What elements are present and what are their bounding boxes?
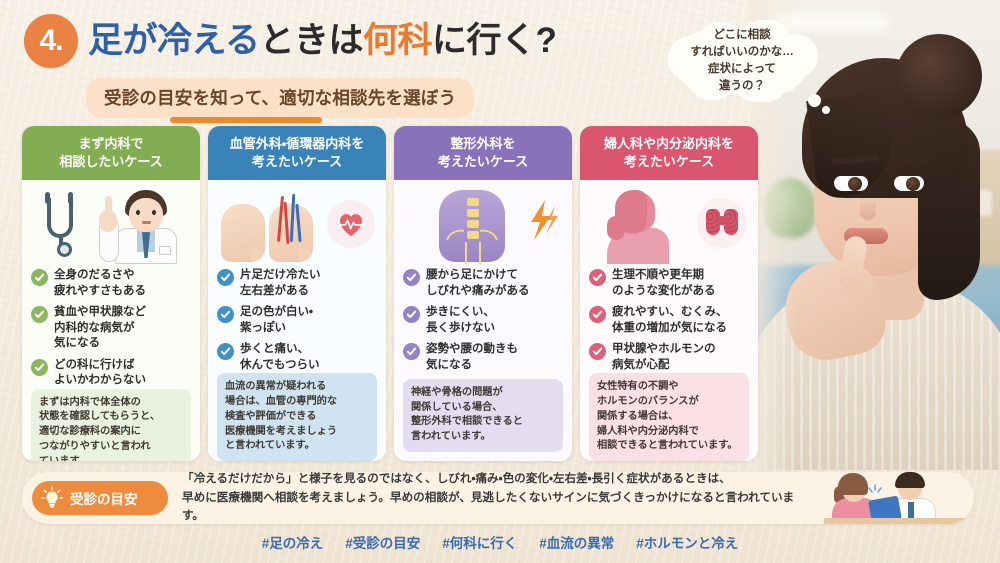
- subtitle-wrapper: 受診の目安を知って、適切な相談先を選ぼう: [86, 78, 474, 118]
- title-segment-2: 冷える: [157, 21, 259, 60]
- thyroid-icon: [697, 198, 747, 248]
- card-naika-header: まず内科で 相談したいケース: [22, 126, 200, 180]
- hashtag-item[interactable]: #血流の異常: [539, 532, 614, 552]
- check-icon: [31, 269, 48, 286]
- sparkle-icon: [866, 484, 884, 502]
- card-seikei-geka[interactable]: 整形外科を 考えたいケース: [394, 126, 572, 461]
- check-icon: [403, 306, 420, 323]
- lightning-bolt-icon: [525, 200, 559, 250]
- doctor-face: [129, 198, 163, 232]
- doctor-mouth: [142, 221, 151, 224]
- vertebra-2: [467, 209, 479, 217]
- card-seikei-geka-art: [403, 188, 563, 264]
- stethoscope-bell: [57, 242, 72, 257]
- check-icon: [31, 306, 48, 323]
- subtitle-band: 受診の目安を知って、適切な相談先を選ぼう: [86, 78, 474, 118]
- bubble-tail-large: [808, 94, 821, 107]
- list-item: 歩きにくい、 長く歩けない: [403, 305, 563, 336]
- header: 4. 足が冷えるときは何科に行く? 受診の目安を知って、適切な相談先を選ぼう: [24, 14, 724, 118]
- list-item-label: どの科に行けば よいかわからない: [54, 358, 146, 389]
- hair-bun: [896, 34, 982, 118]
- hashtag-item[interactable]: #受診の目安: [345, 532, 420, 552]
- check-icon: [31, 359, 48, 376]
- list-item-label: 足の色が白い・ 紫っぽい: [240, 305, 313, 336]
- check-icon: [217, 306, 234, 323]
- title-segment-4: 何科: [363, 21, 432, 60]
- hashtag-row: #足の冷え #受診の目安 #何科に行く #血流の異常 #ホルモンと冷え: [0, 532, 1000, 552]
- subtitle-underline: [170, 117, 322, 123]
- speech-bubble: どこに相談 すればいいのかな… 症状によって 違うの？: [662, 20, 822, 102]
- woman-silhouette-illustration: [601, 190, 673, 264]
- check-icon: [217, 343, 234, 360]
- list-item: 貧血や甲状腺など 内科的な病気が 気になる: [31, 305, 191, 352]
- doctor-pointing-finger: [105, 196, 112, 214]
- list-item: 甲状腺やホルモンの 病気が心配: [589, 342, 749, 373]
- card-kekkan-geka-note: 血流の異常が疑われる 場合は、血管の専門的な 検査や評価ができる 医療機関を考え…: [217, 373, 377, 461]
- list-item-label: 甲状腺やホルモンの 病気が心配: [612, 342, 716, 373]
- list-item-label: 歩くと痛い、 休んでもつらい: [240, 342, 319, 373]
- list-item-label: 腰から足にかけて しびれや痛みがある: [426, 268, 530, 299]
- advice-pill: 受診の目安: [32, 481, 168, 515]
- title-segment-3: ときは: [259, 21, 363, 60]
- thyroid-gland: [706, 209, 738, 237]
- spine-pelvis-illustration: [429, 190, 515, 264]
- list-item-label: 全身のだるさや 疲れやすさもある: [54, 268, 146, 299]
- card-naika-body: 全身のだるさや 疲れやすさもある 貧血や甲状腺など 内科的な病気が 気になる ど…: [22, 180, 200, 461]
- card-kekkan-geka[interactable]: 血管外科・循環器内科を 考えたいケース: [208, 126, 386, 461]
- advice-banner-text: 「冷えるだけだから」と様子を見るのではなく、しびれ・痛み・色の変化・左右差・長引…: [168, 472, 824, 524]
- list-item: 生理不順や更年期 のような変化がある: [589, 268, 749, 299]
- nose: [860, 198, 876, 220]
- card-kekkan-geka-art: [217, 188, 377, 264]
- card-seikei-geka-body: 腰から足にかけて しびれや痛みがある 歩きにくい、 長く歩けない 姿勢や腰の動き…: [394, 180, 572, 461]
- case-cards: まず内科で 相談したいケース: [22, 126, 762, 461]
- card-fujinka-bullets: 生理不順や更年期 のような変化がある 疲れやすい、むくみ、 体重の増加が気になる…: [589, 268, 749, 373]
- stethoscope-icon: [37, 192, 85, 258]
- card-seikei-geka-note: 神経や骨格の問題が 関係している場合、 整形外科で相談できると 言われています。: [403, 379, 563, 452]
- speech-bubble-text: どこに相談 すればいいのかな… 症状によって 違うの？: [684, 27, 800, 96]
- lightbulb-icon: [40, 486, 64, 510]
- list-item-label: 片足だけ冷たい 左右差がある: [240, 268, 321, 299]
- check-icon: [589, 343, 606, 360]
- hashtag-item[interactable]: #何科に行く: [442, 532, 517, 552]
- bubble-tail-small: [822, 106, 830, 114]
- list-item: 腰から足にかけて しびれや痛みがある: [403, 268, 563, 299]
- list-item-label: 歩きにくい、 長く歩けない: [426, 305, 495, 336]
- list-item: 疲れやすい、むくみ、 体重の増加が気になる: [589, 305, 749, 336]
- list-item-label: 疲れやすい、むくみ、 体重の増加が気になる: [612, 305, 727, 336]
- card-fujinka-header: 婦人科や内分泌内科を 考えたいケース: [580, 126, 758, 180]
- nerve-leg-right: [479, 242, 481, 264]
- section-number-badge: 4.: [24, 14, 78, 68]
- card-naika-bullets: 全身のだるさや 疲れやすさもある 貧血や甲状腺など 内科的な病気が 気になる ど…: [31, 268, 191, 389]
- check-icon: [589, 269, 606, 286]
- title-row: 4. 足が冷えるときは何科に行く?: [24, 14, 724, 68]
- card-kekkan-geka-body: 片足だけ冷たい 左右差がある 足の色が白い・ 紫っぽい 歩くと痛い、 休んでもつ…: [208, 180, 386, 461]
- card-seikei-geka-bullets: 腰から足にかけて しびれや痛みがある 歩きにくい、 長く歩けない 姿勢や腰の動き…: [403, 268, 563, 373]
- check-icon: [403, 269, 420, 286]
- hashtag-item[interactable]: #足の冷え: [262, 532, 324, 552]
- check-icon: [217, 269, 234, 286]
- advice-banner: 受診の目安 「冷えるだけだから」と様子を見るのではなく、しびれ・痛み・色の変化・…: [22, 472, 974, 524]
- heartbeat-icon: [327, 200, 375, 248]
- silhouette-hair: [615, 190, 647, 234]
- list-item: 姿勢や腰の動きも 気になる: [403, 342, 563, 373]
- hashtag-item[interactable]: #ホルモンと冷え: [636, 532, 738, 552]
- list-item-label: 姿勢や腰の動きも 気になる: [426, 342, 518, 373]
- list-item: 片足だけ冷たい 左右差がある: [217, 268, 377, 299]
- card-naika-note: まずは内科で体全体の 状態を確認してもらうと、 適切な診療科の案内に つながりや…: [31, 389, 191, 461]
- toes-right: [297, 248, 311, 260]
- feet-illustration: [219, 192, 327, 262]
- card-fujinka-art: [589, 188, 749, 264]
- eye-right: [894, 176, 924, 191]
- patient-hair: [838, 473, 868, 495]
- card-fujinka[interactable]: 婦人科や内分泌内科を 考えたいケース: [580, 126, 758, 461]
- infographic-stage: 4. 足が冷えるときは何科に行く? 受診の目安を知って、適切な相談先を選ぼう ど…: [0, 0, 1000, 563]
- consultation-illustration: [824, 472, 974, 524]
- title-segment-5: に行く?: [432, 21, 556, 60]
- card-naika[interactable]: まず内科で 相談したいケース: [22, 126, 200, 461]
- doctor-illustration: [95, 188, 187, 264]
- vertebra-3: [467, 220, 479, 228]
- eye-left: [834, 176, 868, 191]
- toes-left: [249, 248, 263, 260]
- list-item-label: 貧血や甲状腺など 内科的な病気が 気になる: [54, 305, 146, 352]
- card-seikei-geka-header: 整形外科を 考えたいケース: [394, 126, 572, 180]
- doctor-necktie: [908, 502, 914, 518]
- card-kekkan-geka-header: 血管外科・循環器内科を 考えたいケース: [208, 126, 386, 180]
- vertebra-1: [467, 198, 479, 206]
- advice-pill-label: 受診の目安: [70, 488, 138, 508]
- nerve-leg-left: [465, 242, 467, 264]
- thyroid-isthmus: [717, 216, 727, 225]
- foot-left: [221, 204, 265, 262]
- list-item: 足の色が白い・ 紫っぽい: [217, 305, 377, 336]
- list-item-label: 生理不順や更年期 のような変化がある: [612, 268, 716, 299]
- card-fujinka-body: 生理不順や更年期 のような変化がある 疲れやすい、むくみ、 体重の増加が気になる…: [580, 180, 758, 461]
- list-item: 歩くと痛い、 休んでもつらい: [217, 342, 377, 373]
- card-naika-art: [31, 188, 191, 264]
- page-title: 足が冷えるときは何科に行く?: [88, 22, 556, 61]
- check-icon: [589, 306, 606, 323]
- check-icon: [403, 343, 420, 360]
- list-item: どの科に行けば よいかわからない: [31, 358, 191, 389]
- desk-surface: [824, 518, 974, 524]
- stethoscope-tube: [47, 198, 73, 238]
- doctor-hair: [895, 472, 925, 488]
- card-fujinka-note: 女性特有の不調や ホルモンのバランスが 関係する場合は、 婦人科や内分泌内科で …: [589, 373, 749, 461]
- title-segment-1: 足が: [88, 21, 157, 60]
- list-item: 全身のだるさや 疲れやすさもある: [31, 268, 191, 299]
- card-kekkan-geka-bullets: 片足だけ冷たい 左右差がある 足の色が白い・ 紫っぽい 歩くと痛い、 休んでもつ…: [217, 268, 377, 373]
- doctor-pocket: [159, 246, 171, 255]
